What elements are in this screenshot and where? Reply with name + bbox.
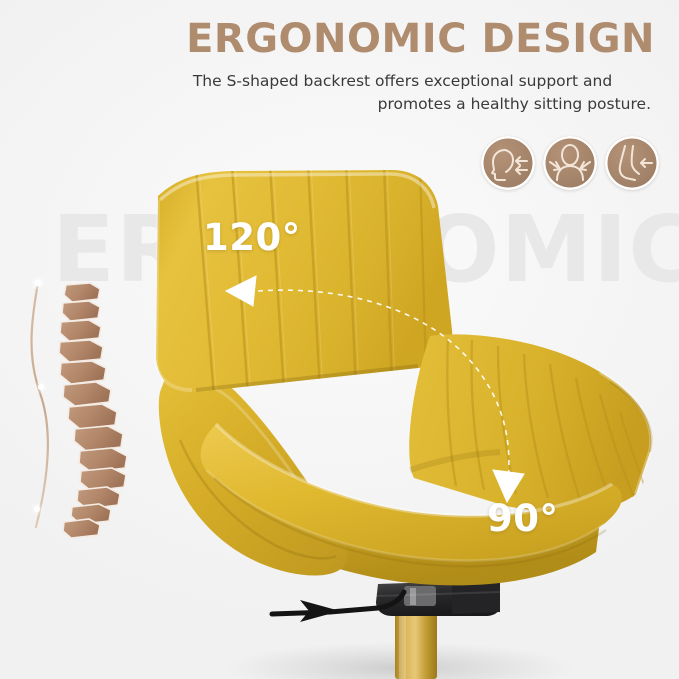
feature-badge-group [481, 136, 659, 190]
subtitle-line-1: The S-shaped backrest offers exceptional… [193, 72, 612, 90]
lumbar-support-icon[interactable] [605, 136, 659, 190]
subtitle-line-2: promotes a healthy sitting posture. [150, 93, 655, 116]
neck-support-icon[interactable] [481, 136, 535, 190]
spine-illustration [22, 275, 152, 540]
page-subtitle: The S-shaped backrest offers exceptional… [150, 70, 655, 116]
product-feature-image: ERGONOMIC [0, 0, 679, 679]
page-title: ERGONOMIC DESIGN [0, 16, 679, 62]
shoulder-support-icon[interactable] [543, 136, 597, 190]
